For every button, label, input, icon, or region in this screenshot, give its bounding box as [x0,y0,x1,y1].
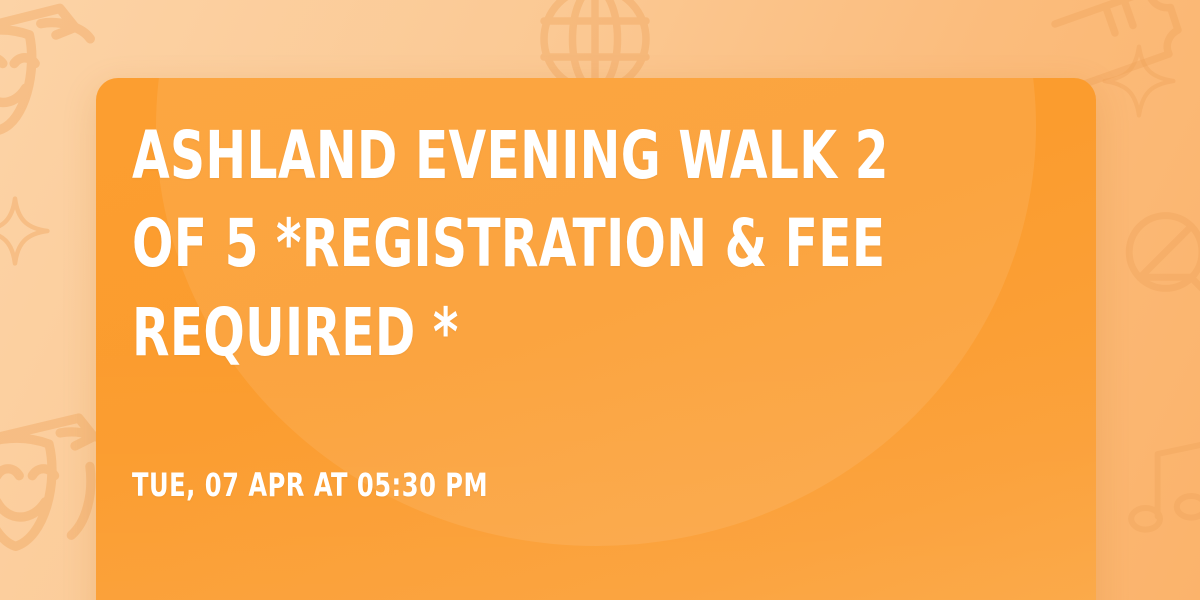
event-datetime: Tue, 07 Apr at 05:30 PM [132,377,908,501]
event-card[interactable]: Ashland Evening Walk 2 of 5 *Registratio… [96,78,1096,600]
event-title: Ashland Evening Walk 2 of 5 *Registratio… [132,112,890,377]
microphone-icon [1104,196,1200,336]
card-content: Ashland Evening Walk 2 of 5 *Registratio… [96,78,1096,501]
sparkle-icon [0,186,60,276]
sparkle-icon [1096,38,1182,124]
event-banner: Ashland Evening Walk 2 of 5 *Registratio… [0,0,1200,600]
music-note-icon [1112,430,1200,550]
